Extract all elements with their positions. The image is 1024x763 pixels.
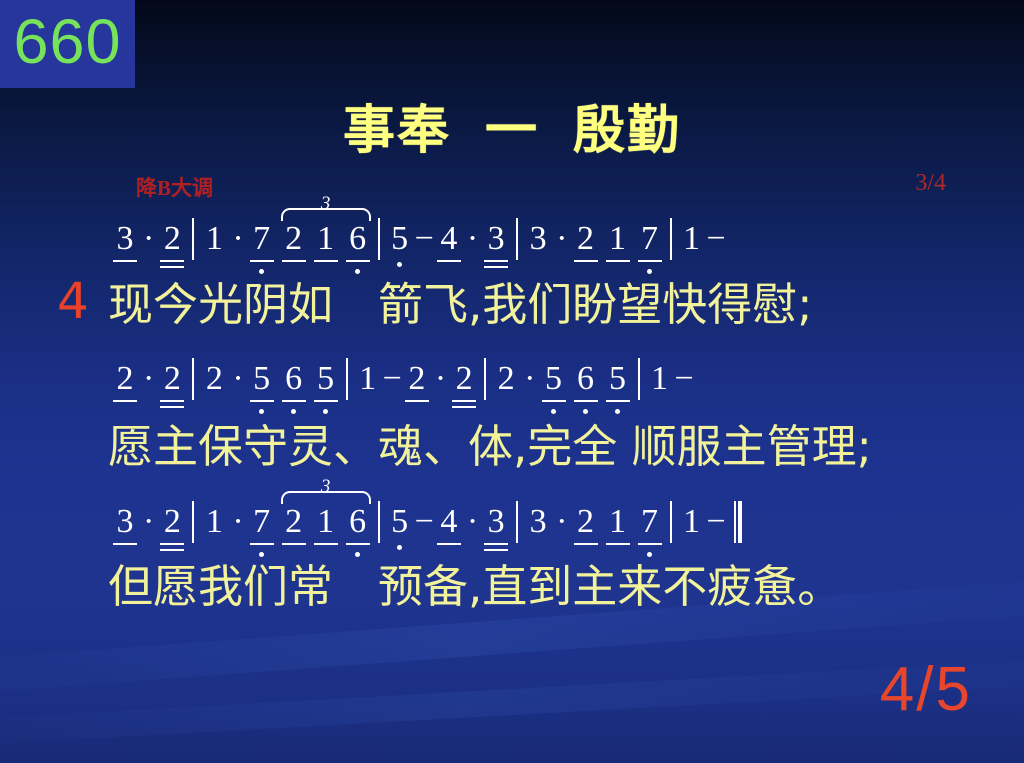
augmentation-dot: ·: [138, 505, 159, 539]
beam-line: [437, 543, 461, 545]
augmentation-dot: ·: [227, 222, 248, 256]
barline: [192, 218, 194, 260]
beam-line: [250, 400, 274, 402]
note-4: 4: [436, 222, 462, 256]
note-glyph: 5: [313, 362, 339, 396]
note-glyph: 7: [637, 222, 663, 256]
note-glyph: 2: [159, 362, 185, 396]
note-glyph: 2: [201, 362, 227, 396]
note-1: 1: [201, 222, 227, 256]
note-1: 1: [313, 222, 339, 256]
note-7: 7: [637, 505, 663, 539]
beam-line: [484, 549, 508, 551]
barline: [670, 501, 672, 543]
beam-line: [638, 543, 662, 545]
beam-line: [638, 260, 662, 262]
beam-line: [405, 400, 429, 402]
note-glyph: 6: [573, 362, 599, 396]
measure: 5−4·3: [387, 505, 510, 539]
note-6: 6: [281, 362, 307, 396]
sustain-dash: −: [705, 222, 728, 256]
note-2: 2: [573, 505, 599, 539]
measure: 3·217: [525, 222, 662, 256]
note-glyph: 5: [387, 222, 413, 256]
measure: 3·217: [525, 505, 662, 539]
note-glyph: 3: [112, 222, 138, 256]
barline: [346, 358, 348, 400]
note-glyph: 4: [436, 222, 462, 256]
note-glyph: 2: [493, 362, 519, 396]
beam-line: [606, 543, 630, 545]
measure: 1−: [647, 362, 696, 396]
octave-dot-low: [647, 269, 652, 274]
beam-line: [346, 543, 370, 545]
octave-dot-low: [397, 545, 402, 550]
note-2: 2: [159, 505, 185, 539]
augmentation-dot: ·: [551, 222, 572, 256]
note-glyph: 1: [605, 505, 631, 539]
decorative-band: [0, 652, 1024, 751]
beam-line: [250, 543, 274, 545]
lyrics-line-1: 现今光阴如 箭飞,我们盼望快得慰;: [108, 280, 812, 330]
beam-line: [282, 543, 306, 545]
music-stave-line-1: 3·21·721635−4·33·2171−: [112, 222, 972, 278]
note-glyph: 5: [387, 505, 413, 539]
octave-dot-low: [551, 409, 556, 414]
note-7: 7: [249, 505, 275, 539]
augmentation-dot: ·: [227, 505, 248, 539]
beam-line: [160, 266, 184, 268]
measure: 2·2: [112, 362, 185, 396]
note-glyph: 3: [483, 222, 509, 256]
title-part-1: 事奉: [343, 101, 451, 161]
barline: [638, 358, 640, 400]
note-2: 2: [201, 362, 227, 396]
note-glyph: 3: [525, 505, 551, 539]
note-glyph: 2: [404, 362, 430, 396]
octave-dot-low: [647, 552, 652, 557]
measure: 2·565: [201, 362, 338, 396]
note-glyph: 2: [451, 362, 477, 396]
page-title: 事奉一殷勤: [0, 88, 1024, 163]
beam-line: [160, 543, 184, 545]
note-1: 1: [679, 505, 705, 539]
sustain-dash: −: [673, 362, 696, 396]
beam-line: [314, 260, 338, 262]
beam-line: [452, 400, 476, 402]
time-signature: 3/4: [915, 170, 946, 197]
triplet-number: 3: [318, 194, 334, 213]
music-stave-line-3: 3·21·721635−4·33·2171−: [112, 505, 972, 561]
note-glyph: 2: [112, 362, 138, 396]
beam-line: [346, 260, 370, 262]
augmentation-dot: ·: [430, 362, 451, 396]
measure: 1−: [679, 222, 728, 256]
augmentation-dot: ·: [138, 222, 159, 256]
note-glyph: 7: [249, 505, 275, 539]
augmentation-dot: ·: [519, 362, 540, 396]
note-3: 3: [112, 222, 138, 256]
octave-dot-low: [291, 409, 296, 414]
note-glyph: 4: [436, 505, 462, 539]
note-5: 5: [249, 362, 275, 396]
beam-line: [282, 400, 306, 402]
note-glyph: 2: [281, 222, 307, 256]
octave-dot-low: [615, 409, 620, 414]
beam-line: [606, 260, 630, 262]
beam-line: [113, 260, 137, 262]
augmentation-dot: ·: [462, 222, 483, 256]
note-glyph: 1: [201, 505, 227, 539]
note-2: 2: [404, 362, 430, 396]
note-glyph: 1: [679, 505, 705, 539]
measure: 3·2: [112, 222, 185, 256]
note-3: 3: [483, 505, 509, 539]
beam-line: [314, 400, 338, 402]
beam-line: [484, 266, 508, 268]
measure: 1·72163: [201, 505, 370, 539]
note-glyph: 1: [355, 362, 381, 396]
octave-dot-low: [583, 409, 588, 414]
note-glyph: 1: [679, 222, 705, 256]
note-3: 3: [525, 222, 551, 256]
beam-line: [574, 400, 598, 402]
note-7: 7: [249, 222, 275, 256]
title-part-2: 殷勤: [573, 101, 681, 161]
beam-line: [574, 543, 598, 545]
augmentation-dot: ·: [227, 362, 248, 396]
lyrics-line-2: 愿主保守灵、魂、体,完全 顺服主管理;: [108, 422, 872, 472]
sustain-dash: −: [705, 505, 728, 539]
final-barline: [734, 501, 742, 543]
note-5: 5: [605, 362, 631, 396]
note-2: 2: [281, 505, 307, 539]
augmentation-dot: ·: [138, 362, 159, 396]
barline: [192, 501, 194, 543]
measure: 1−2·2: [355, 362, 478, 396]
note-1: 1: [605, 222, 631, 256]
beam-line: [160, 549, 184, 551]
lyrics-line-3: 但愿我们常 预备,直到主来不疲惫。: [108, 562, 842, 612]
octave-dot-low: [259, 269, 264, 274]
hymn-slide: 660 事奉一殷勤 降B大调 3/4 4 3·21·721635−4·33·21…: [0, 0, 1024, 763]
note-5: 5: [387, 505, 413, 539]
note-glyph: 5: [541, 362, 567, 396]
hymn-number: 660: [13, 11, 121, 74]
note-glyph: 5: [605, 362, 631, 396]
note-glyph: 2: [573, 505, 599, 539]
beam-line: [484, 543, 508, 545]
note-glyph: 1: [605, 222, 631, 256]
note-glyph: 7: [637, 505, 663, 539]
beam-line: [113, 400, 137, 402]
music-stave-line-2: 2·22·5651−2·22·5651−: [112, 362, 972, 418]
note-5: 5: [387, 222, 413, 256]
note-2: 2: [159, 362, 185, 396]
note-5: 5: [313, 362, 339, 396]
beam-line: [574, 260, 598, 262]
note-3: 3: [112, 505, 138, 539]
beam-line: [314, 543, 338, 545]
final-barline-thin: [734, 501, 736, 543]
barline: [378, 501, 380, 543]
beam-line: [542, 400, 566, 402]
note-glyph: 3: [112, 505, 138, 539]
barline: [516, 501, 518, 543]
octave-dot-low: [355, 552, 360, 557]
triplet-bracket: 3: [281, 481, 371, 503]
note-1: 1: [605, 505, 631, 539]
sustain-dash: −: [413, 505, 436, 539]
beam-line: [113, 543, 137, 545]
note-glyph: 2: [573, 222, 599, 256]
beam-line: [250, 260, 274, 262]
beam-line: [484, 260, 508, 262]
note-2: 2: [451, 362, 477, 396]
note-glyph: 3: [525, 222, 551, 256]
augmentation-dot: ·: [551, 505, 572, 539]
beam-line: [160, 406, 184, 408]
note-glyph: 7: [249, 222, 275, 256]
beam-line: [437, 260, 461, 262]
sustain-dash: −: [381, 362, 404, 396]
note-glyph: 1: [201, 222, 227, 256]
note-glyph: 2: [281, 505, 307, 539]
note-glyph: 6: [281, 362, 307, 396]
barline: [484, 358, 486, 400]
beam-line: [606, 400, 630, 402]
augmentation-dot: ·: [462, 505, 483, 539]
note-glyph: 1: [313, 222, 339, 256]
hymn-number-badge: 660: [0, 0, 135, 88]
triplet-bracket: 3: [281, 198, 371, 220]
note-2: 2: [573, 222, 599, 256]
note-glyph: 1: [647, 362, 673, 396]
barline: [192, 358, 194, 400]
note-4: 4: [436, 505, 462, 539]
verse-number: 4: [57, 276, 89, 326]
final-barline-thick: [738, 501, 742, 543]
sustain-dash: −: [413, 222, 436, 256]
note-6: 6: [345, 505, 371, 539]
key-signature: 降B大调: [136, 172, 213, 202]
page-indicator: 4/5: [880, 659, 972, 721]
note-1: 1: [201, 505, 227, 539]
note-2: 2: [159, 222, 185, 256]
beam-line: [160, 400, 184, 402]
measure: 1−: [679, 505, 728, 539]
note-5: 5: [541, 362, 567, 396]
measure: 1·72163: [201, 222, 370, 256]
beam-line: [160, 260, 184, 262]
note-2: 2: [281, 222, 307, 256]
octave-dot-low: [259, 409, 264, 414]
note-6: 6: [345, 222, 371, 256]
note-glyph: 6: [345, 505, 371, 539]
barline: [670, 218, 672, 260]
title-dash: 一: [485, 101, 539, 161]
note-glyph: 5: [249, 362, 275, 396]
note-6: 6: [573, 362, 599, 396]
octave-dot-low: [397, 262, 402, 267]
note-2: 2: [112, 362, 138, 396]
note-1: 1: [313, 505, 339, 539]
note-glyph: 2: [159, 222, 185, 256]
note-3: 3: [525, 505, 551, 539]
note-1: 1: [355, 362, 381, 396]
note-glyph: 6: [345, 222, 371, 256]
measure: 3·2: [112, 505, 185, 539]
barline: [378, 218, 380, 260]
note-glyph: 2: [159, 505, 185, 539]
octave-dot-low: [323, 409, 328, 414]
triplet-number: 3: [318, 477, 334, 496]
measure: 5−4·3: [387, 222, 510, 256]
octave-dot-low: [259, 552, 264, 557]
measure: 2·565: [493, 362, 630, 396]
note-7: 7: [637, 222, 663, 256]
note-glyph: 1: [313, 505, 339, 539]
note-1: 1: [647, 362, 673, 396]
note-glyph: 3: [483, 505, 509, 539]
note-1: 1: [679, 222, 705, 256]
beam-line: [282, 260, 306, 262]
beam-line: [452, 406, 476, 408]
barline: [516, 218, 518, 260]
note-2: 2: [493, 362, 519, 396]
octave-dot-low: [355, 269, 360, 274]
note-3: 3: [483, 222, 509, 256]
